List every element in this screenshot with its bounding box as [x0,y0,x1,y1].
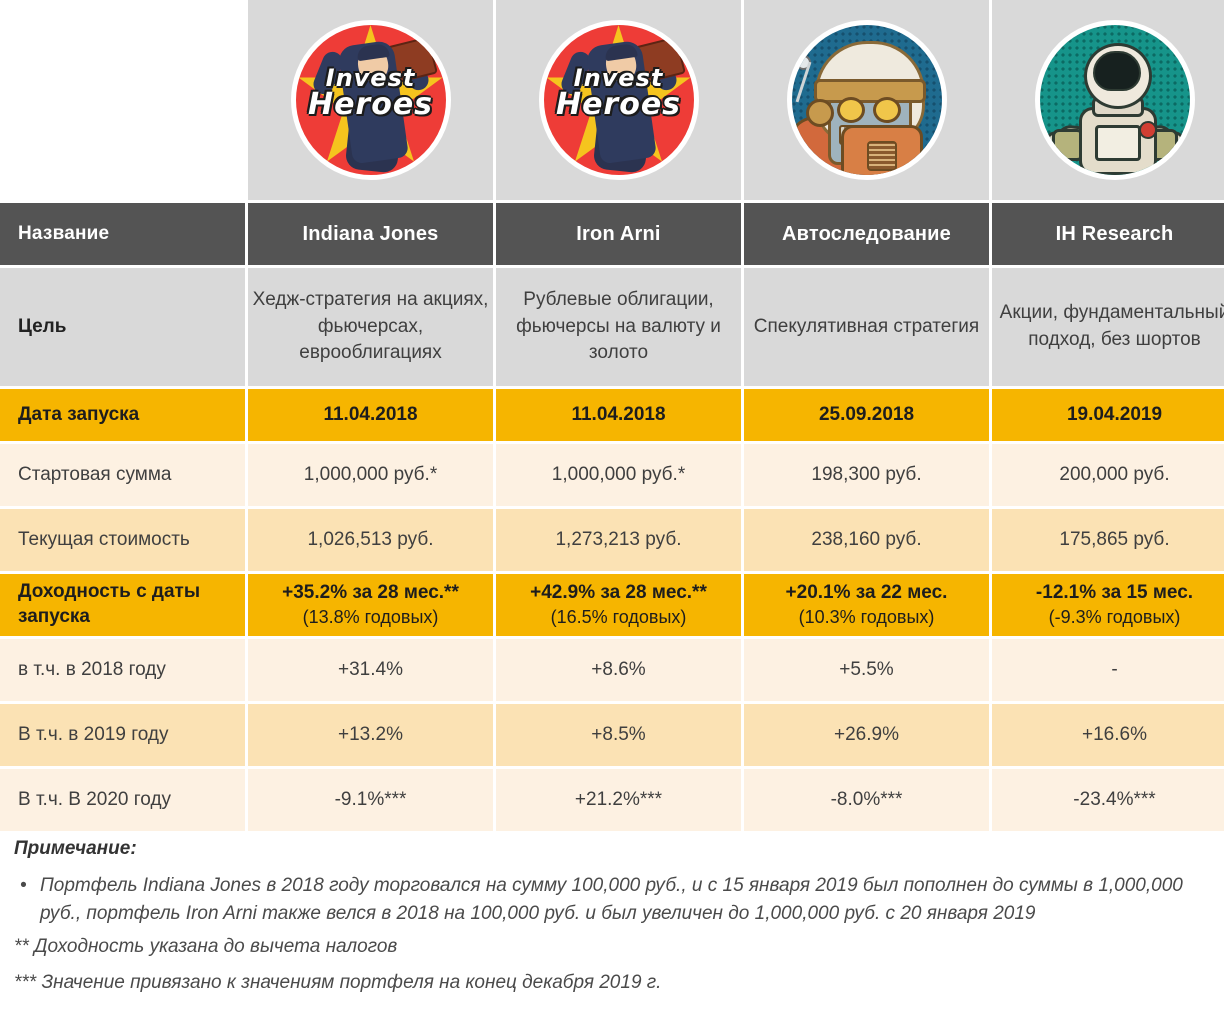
cell-2019-autosledovanie: +26.9% [744,704,989,766]
table-row-return-since-launch: Доходность с даты запуска +35.2% за 28 м… [0,574,1224,636]
cell-value: -8.0%*** [744,789,989,811]
cell-value: +5.5% [744,659,989,681]
cell-value: 200,000 руб. [992,464,1224,486]
robot-ear [806,99,834,127]
cell-value: 19.04.2019 [992,404,1224,426]
column-title: Автоследование [744,223,989,246]
header-cell-label: Название [0,203,245,265]
comparison-sheet: Invest Heroes [0,0,1224,1023]
cell-return-iron-arni: +42.9% за 28 мес.** (16.5% годовых) [496,574,741,636]
cell-start-sum-indiana-jones: 1,000,000 руб.* [248,444,493,506]
header-cell-iron-arni: Iron Arni [496,203,741,265]
cell-return-autosledovanie: +20.1% за 22 мес. (10.3% годовых) [744,574,989,636]
header-cell-indiana-jones: Indiana Jones [248,203,493,265]
table-row-year-2019: В т.ч. в 2019 году +13.2% +8.5% +26.9% +… [0,704,1224,766]
note-bullet-text: Портфель Indiana Jones в 2018 году торго… [40,875,1183,924]
cell-value: +8.5% [496,724,741,746]
logo-word-heroes: Heroes [308,87,433,122]
cell-2019-iron-arni: +8.5% [496,704,741,766]
cell-2018-ih-research: - [992,639,1224,701]
cell-start-sum-autosledovanie: 198,300 руб. [744,444,989,506]
cell-value: 198,300 руб. [744,464,989,486]
cell-value: 11.04.2018 [496,404,741,426]
logo-cell-autosledovanie [744,0,989,200]
logo-wordmark: Invest Heroes [296,66,446,120]
row-label-cell: в т.ч. в 2018 году [0,639,245,701]
table-row-current-value: Текущая стоимость 1,026,513 руб. 1,273,2… [0,509,1224,571]
table-row-year-2020: В т.ч. В 2020 году -9.1%*** +21.2%*** -8… [0,769,1224,831]
cell-2018-iron-arni: +8.6% [496,639,741,701]
column-title: IH Research [992,223,1224,246]
row-label: Текущая стоимость [0,529,245,551]
header-cell-ih-research: IH Research [992,203,1224,265]
cell-value: - [992,659,1224,681]
return-main: -12.1% за 15 мес. [992,581,1224,606]
cell-value: 1,000,000 руб.* [496,464,741,486]
cell-value: +8.6% [496,659,741,681]
cell-2019-ih-research: +16.6% [992,704,1224,766]
cell-2020-iron-arni: +21.2%*** [496,769,741,831]
row-label: В т.ч. В 2020 году [0,789,245,811]
cell-launch-date-ih-research: 19.04.2019 [992,389,1224,441]
cell-value: Хедж-стратегия на акциях, фьючерсах, евр… [248,287,493,368]
note-double-asterisk: ** Доходность указана до вычета налогов [14,933,1208,961]
cell-value: 1,026,513 руб. [248,529,493,551]
cell-value: +20.1% за 22 мес. (10.3% годовых) [744,581,989,629]
astronaut-flag-patch [1139,121,1157,139]
cell-current-value-autosledovanie: 238,160 руб. [744,509,989,571]
cell-goal-autosledovanie: Спекулятивная стратегия [744,268,989,386]
row-label: В т.ч. в 2019 году [0,724,245,746]
return-main: +20.1% за 22 мес. [744,581,989,606]
cell-value: 1,000,000 руб.* [248,464,493,486]
cell-launch-date-iron-arni: 11.04.2018 [496,389,741,441]
cell-current-value-ih-research: 175,865 руб. [992,509,1224,571]
cell-value: 25.09.2018 [744,404,989,426]
note-bullet-item: • Портфель Indiana Jones в 2018 году тор… [14,872,1208,927]
cell-value: +35.2% за 28 мес.** (13.8% годовых) [248,581,493,629]
return-main: +35.2% за 28 мес.** [248,581,493,606]
row-label: Доходность с даты запуска [0,580,245,629]
astronaut-visor [1093,51,1141,91]
row-label: Дата запуска [0,404,245,426]
notes-title: Примечание: [14,838,1224,860]
notes-section: Примечание: • Портфель Indiana Jones в 2… [0,838,1224,1004]
cell-value: 175,865 руб. [992,529,1224,551]
invest-heroes-logo: Invest Heroes [291,20,451,180]
cell-goal-ih-research: Акции, фундаментальный подход, без шорто… [992,268,1224,386]
cell-value: -9.1%*** [248,789,493,811]
robot-eye-left [837,97,865,123]
row-label-cell: В т.ч. В 2020 году [0,769,245,831]
cell-2018-autosledovanie: +5.5% [744,639,989,701]
strategies-table: Invest Heroes [0,0,1224,834]
cell-2020-autosledovanie: -8.0%*** [744,769,989,831]
return-annualized: (-9.3% годовых) [992,606,1224,629]
cell-2020-ih-research: -23.4%*** [992,769,1224,831]
logo-row: Invest Heroes [0,0,1224,200]
header-cell-autosledovanie: Автоследование [744,203,989,265]
cell-start-sum-ih-research: 200,000 руб. [992,444,1224,506]
row-label-cell: Дата запуска [0,389,245,441]
cell-value: 11.04.2018 [248,404,493,426]
meditating-astronaut-logo [1035,20,1195,180]
cell-value: -12.1% за 15 мес. (-9.3% годовых) [992,581,1224,629]
cell-goal-iron-arni: Рублевые облигации, фьючерсы на валюту и… [496,268,741,386]
table-row-launch-date: Дата запуска 11.04.2018 11.04.2018 25.09… [0,389,1224,441]
table-row-goal: Цель Хедж-стратегия на акциях, фьючерсах… [0,268,1224,386]
cell-value: +21.2%*** [496,789,741,811]
cell-launch-date-indiana-jones: 11.04.2018 [248,389,493,441]
row-label-cell: Цель [0,268,245,386]
cell-value: +16.6% [992,724,1224,746]
bullet-dot-icon: • [20,872,27,900]
cell-current-value-iron-arni: 1,273,213 руб. [496,509,741,571]
return-annualized: (10.3% годовых) [744,606,989,629]
table-row-year-2018: в т.ч. в 2018 году +31.4% +8.6% +5.5% - [0,639,1224,701]
return-annualized: (13.8% годовых) [248,606,493,629]
astronaut-chest-panel [1095,125,1141,161]
cell-2020-indiana-jones: -9.1%*** [248,769,493,831]
row-label-cell: Стартовая сумма [0,444,245,506]
cell-launch-date-autosledovanie: 25.09.2018 [744,389,989,441]
logo-cell-empty [0,0,245,200]
column-title: Indiana Jones [248,223,493,246]
logo-cell-indiana-jones: Invest Heroes [248,0,493,200]
robot-chest-grill [867,141,897,171]
cell-value: 238,160 руб. [744,529,989,551]
cell-2018-indiana-jones: +31.4% [248,639,493,701]
invest-heroes-logo: Invest Heroes [539,20,699,180]
cell-value: +31.4% [248,659,493,681]
cell-value: Рублевые облигации, фьючерсы на валюту и… [496,287,741,368]
row-label-cell: Доходность с даты запуска [0,574,245,636]
cell-goal-indiana-jones: Хедж-стратегия на акциях, фьючерсах, евр… [248,268,493,386]
logo-wordmark: Invest Heroes [544,66,694,120]
cell-value: 1,273,213 руб. [496,529,741,551]
logo-cell-ih-research [992,0,1224,200]
note-triple-asterisk: *** Значение привязано к значениям портф… [14,969,1208,997]
cell-2019-indiana-jones: +13.2% [248,704,493,766]
logo-word-heroes: Heroes [556,87,681,122]
row-label: в т.ч. в 2018 году [0,659,245,681]
cell-start-sum-iron-arni: 1,000,000 руб.* [496,444,741,506]
cell-value: +42.9% за 28 мес.** (16.5% годовых) [496,581,741,629]
cell-value: +13.2% [248,724,493,746]
logo-cell-iron-arni: Invest Heroes [496,0,741,200]
cell-value: Спекулятивная стратегия [744,314,989,341]
column-title: Iron Arni [496,223,741,246]
robot-eye-right [873,97,901,123]
robot-helmet-band [814,79,926,103]
cell-value: Акции, фундаментальный подход, без шорто… [992,300,1224,354]
return-main: +42.9% за 28 мес.** [496,581,741,606]
cell-return-indiana-jones: +35.2% за 28 мес.** (13.8% годовых) [248,574,493,636]
robot-astronaut-logo [787,20,947,180]
cell-return-ih-research: -12.1% за 15 мес. (-9.3% годовых) [992,574,1224,636]
return-annualized: (16.5% годовых) [496,606,741,629]
header-label-text: Название [0,223,245,245]
row-label: Цель [0,314,245,341]
cell-current-value-indiana-jones: 1,026,513 руб. [248,509,493,571]
row-label-cell: В т.ч. в 2019 году [0,704,245,766]
table-header-row: Название Indiana Jones Iron Arni Автосле… [0,203,1224,265]
cell-value: -23.4%*** [992,789,1224,811]
row-label-cell: Текущая стоимость [0,509,245,571]
row-label: Стартовая сумма [0,464,245,486]
cell-value: +26.9% [744,724,989,746]
table-row-start-sum: Стартовая сумма 1,000,000 руб.* 1,000,00… [0,444,1224,506]
